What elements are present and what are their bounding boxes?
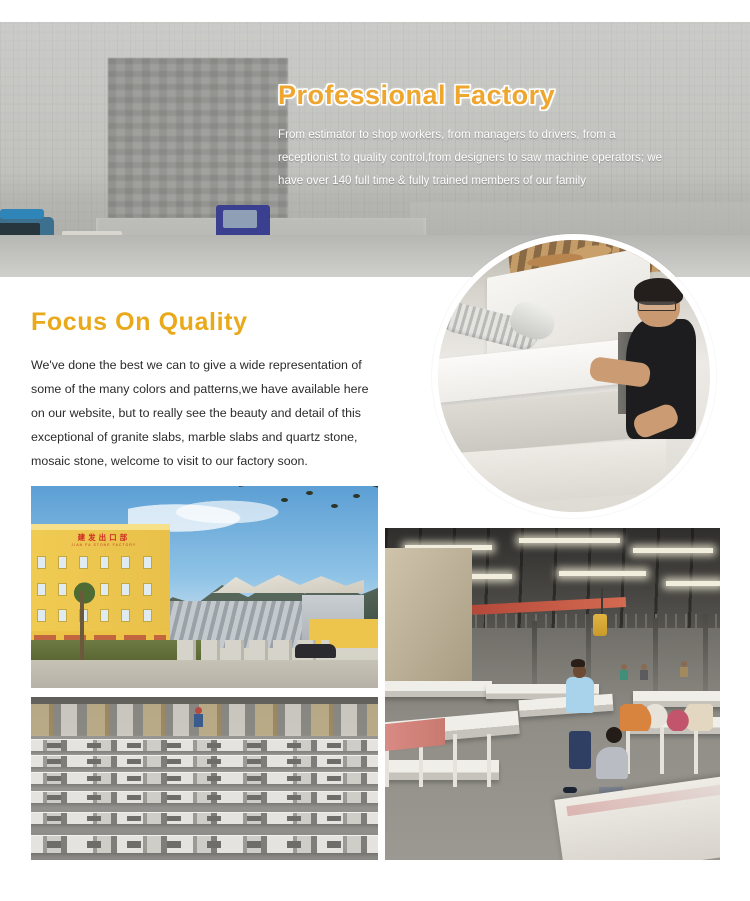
yard-worker [194,707,203,727]
slab-rows [31,736,378,860]
banner-paragraph: From estimator to shop workers, from man… [278,123,678,192]
banner-text-block: Professional Factory From estimator to s… [278,80,678,192]
building-sign-english: JIAN FA STONE FACTORY [71,543,136,547]
crane-hoist [593,614,607,636]
focus-title: Focus On Quality [31,308,381,337]
focus-paragraph: We've done the best we can to give a wid… [31,353,379,473]
building-sign-chinese: 建发出口部 [78,534,131,542]
banner-title: Professional Factory [278,80,678,111]
polishing-line-photo [438,240,710,512]
photo-factory-interior [385,528,720,860]
photo-factory-building: 建发出口部 JIAN FA STONE FACTORY [31,486,378,688]
tree-branch [239,486,378,555]
concrete-wall [385,548,472,687]
building-windows [34,553,166,630]
quarry-rock-face [108,58,288,218]
page-root: Professional Factory From estimator to s… [0,0,750,901]
focus-section: Focus On Quality We've done the best we … [31,308,381,473]
building-sign: 建发出口部 JIAN FA STONE FACTORY [45,530,163,550]
worker-grey-jacket [596,747,628,779]
hero-banner: Professional Factory From estimator to s… [0,22,750,277]
circular-photo-frame [432,234,716,518]
worker-glasses [638,301,676,311]
worker-blue-shirt [566,677,594,713]
photo-countertop-yard [31,697,378,860]
